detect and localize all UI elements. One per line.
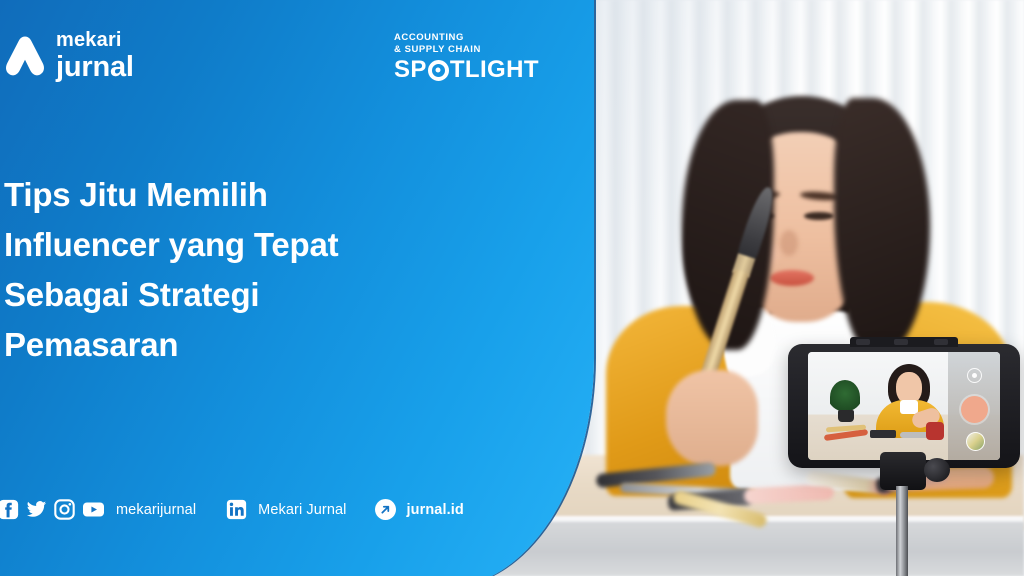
social-icon-group xyxy=(0,499,105,520)
website-group[interactable]: jurnal.id xyxy=(375,499,464,520)
nose xyxy=(780,230,798,256)
brand-name-bottom: jurnal xyxy=(56,53,134,82)
youtube-icon[interactable] xyxy=(82,499,105,520)
website-label: jurnal.id xyxy=(407,502,464,518)
preview-desk-item-3 xyxy=(870,430,896,438)
brand-name-top: mekari xyxy=(56,30,134,50)
preview-plant xyxy=(830,380,860,414)
mekari-arrow-logo-icon xyxy=(4,33,46,79)
hand xyxy=(666,370,758,466)
facebook-icon[interactable] xyxy=(0,499,19,520)
mouth xyxy=(770,270,814,286)
spotlight-line-1: ACCOUNTING xyxy=(394,32,539,44)
spotlight-word-prefix: SP xyxy=(394,57,427,83)
smartphone xyxy=(788,344,1020,468)
instagram-icon[interactable] xyxy=(54,499,75,520)
spotlight-badge: ACCOUNTING & SUPPLY CHAIN SP TLIGHT xyxy=(394,32,539,83)
spotlight-wordmark: SP TLIGHT xyxy=(394,57,539,83)
selfie-stick-pole xyxy=(896,486,908,576)
spotlight-o-icon xyxy=(428,60,449,81)
camera-ui-panel xyxy=(948,352,1000,460)
spotlight-word-suffix: TLIGHT xyxy=(450,57,539,83)
preview-desk-item-5 xyxy=(926,422,944,440)
hair-front-right xyxy=(834,98,930,354)
camera-settings-icon[interactable] xyxy=(967,368,982,383)
phone-top-mount-clip xyxy=(850,337,958,347)
spotlight-line-2: & SUPPLY CHAIN xyxy=(394,44,539,56)
arrow-up-right-icon[interactable] xyxy=(375,499,396,520)
shutter-button[interactable] xyxy=(961,396,988,423)
eye-right xyxy=(804,212,834,220)
linkedin-group[interactable]: Mekari Jurnal xyxy=(226,499,346,520)
phone-screen xyxy=(808,352,1000,460)
brand-logo[interactable]: mekari jurnal xyxy=(4,30,134,82)
headline-line-1: Tips Jitu Memilih xyxy=(4,170,434,220)
linkedin-label: Mekari Jurnal xyxy=(258,502,346,518)
twitter-icon[interactable] xyxy=(26,499,47,520)
blue-overlay-panel: mekari jurnal ACCOUNTING & SUPPLY CHAIN … xyxy=(0,0,594,576)
phone-tripod-mount xyxy=(880,452,926,490)
desk-front-panel xyxy=(480,522,1024,576)
gallery-thumbnail[interactable] xyxy=(966,432,985,451)
headline-line-2: Influencer yang Tepat xyxy=(4,220,434,270)
footer-social-bar: mekarijurnal Mekari Jurnal jurnal.id xyxy=(0,499,464,520)
brand-wordmark: mekari jurnal xyxy=(56,30,134,82)
preview-plant-pot xyxy=(838,410,854,422)
article-banner: mekari jurnal ACCOUNTING & SUPPLY CHAIN … xyxy=(0,0,1024,576)
linkedin-icon[interactable] xyxy=(226,499,247,520)
tripod-adjust-knob xyxy=(924,458,950,482)
social-handle-label: mekarijurnal xyxy=(116,502,196,518)
headline-line-3: Sebagai Strategi xyxy=(4,270,434,320)
page-title: Tips Jitu Memilih Influencer yang Tepat … xyxy=(4,170,434,370)
headline-line-4: Pemasaran xyxy=(4,320,434,370)
